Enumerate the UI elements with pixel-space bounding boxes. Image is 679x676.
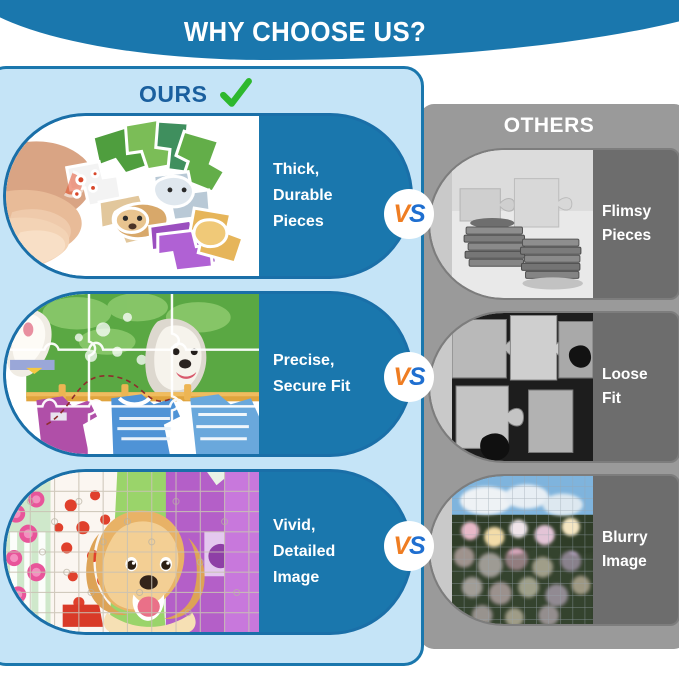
vs-badge-row-1: V S (386, 191, 432, 237)
others-card-list: Flimsy Pieces (428, 148, 679, 637)
others-label-line1: Flimsy (602, 200, 674, 224)
ours-header: OURS (139, 77, 253, 111)
ours-panel: OURS (0, 66, 424, 666)
ours-card-vivid-detailed-image: Vivid, Detailed Image (3, 469, 413, 635)
ours-label-line2: Detailed (273, 539, 402, 565)
ours-label-line2: Secure Fit (273, 374, 402, 400)
vs-badge-s: S (409, 363, 425, 392)
vs-badge-v: V (393, 532, 409, 561)
vs-badge-v: V (393, 363, 409, 392)
vs-badge-s: S (409, 532, 425, 561)
others-label-line2: Pieces (602, 224, 674, 248)
ours-label-thick-durable-pieces: Thick, Durable Pieces (259, 116, 410, 276)
ours-card-list: Thick, Durable Pieces (3, 113, 413, 647)
others-label-loose-fit: Loose Fit (593, 313, 678, 461)
others-card-loose-fit: Loose Fit (428, 311, 679, 463)
ours-card-thick-durable-pieces: Thick, Durable Pieces (3, 113, 413, 279)
ours-label-line1: Precise, (273, 348, 402, 374)
others-label-line1: Loose (602, 363, 674, 387)
ours-label-line3: Pieces (273, 209, 402, 235)
others-image-flimsy-pieces (430, 150, 593, 298)
infographic-root: OTHERS (0, 0, 679, 676)
vs-badge-row-2: V S (386, 354, 432, 400)
ours-title: OURS (139, 81, 207, 108)
header-banner: WHY CHOOSE US? (0, 0, 679, 60)
others-label-line2: Fit (602, 387, 674, 411)
ours-label-line1: Vivid, (273, 513, 402, 539)
vs-badge-s: S (409, 200, 425, 229)
ours-card-precise-secure-fit: Precise, Secure Fit (3, 291, 413, 457)
vs-badge-row-3: V S (386, 523, 432, 569)
green-check-icon (219, 77, 253, 111)
others-label-line1: Blurry (602, 526, 674, 550)
others-image-blurry-image (430, 476, 593, 624)
vs-badge-v: V (393, 200, 409, 229)
ours-image-precise-secure-fit (6, 294, 259, 454)
others-card-flimsy-pieces: Flimsy Pieces (428, 148, 679, 300)
ours-label-line1: Thick, (273, 157, 402, 183)
others-card-blurry-image: Blurry Image (428, 474, 679, 626)
ours-image-vivid-detailed-image (6, 472, 259, 632)
others-label-flimsy-pieces: Flimsy Pieces (593, 150, 678, 298)
others-label-blurry-image: Blurry Image (593, 476, 678, 624)
ours-label-line2: Durable (273, 183, 402, 209)
page-title: WHY CHOOSE US? (0, 16, 622, 48)
ours-image-thick-durable-pieces (6, 116, 259, 276)
ours-label-line3: Image (273, 565, 402, 591)
others-title: OTHERS (420, 114, 678, 138)
others-panel: OTHERS (420, 104, 679, 649)
others-label-line2: Image (602, 550, 674, 574)
others-image-loose-fit (430, 313, 593, 461)
